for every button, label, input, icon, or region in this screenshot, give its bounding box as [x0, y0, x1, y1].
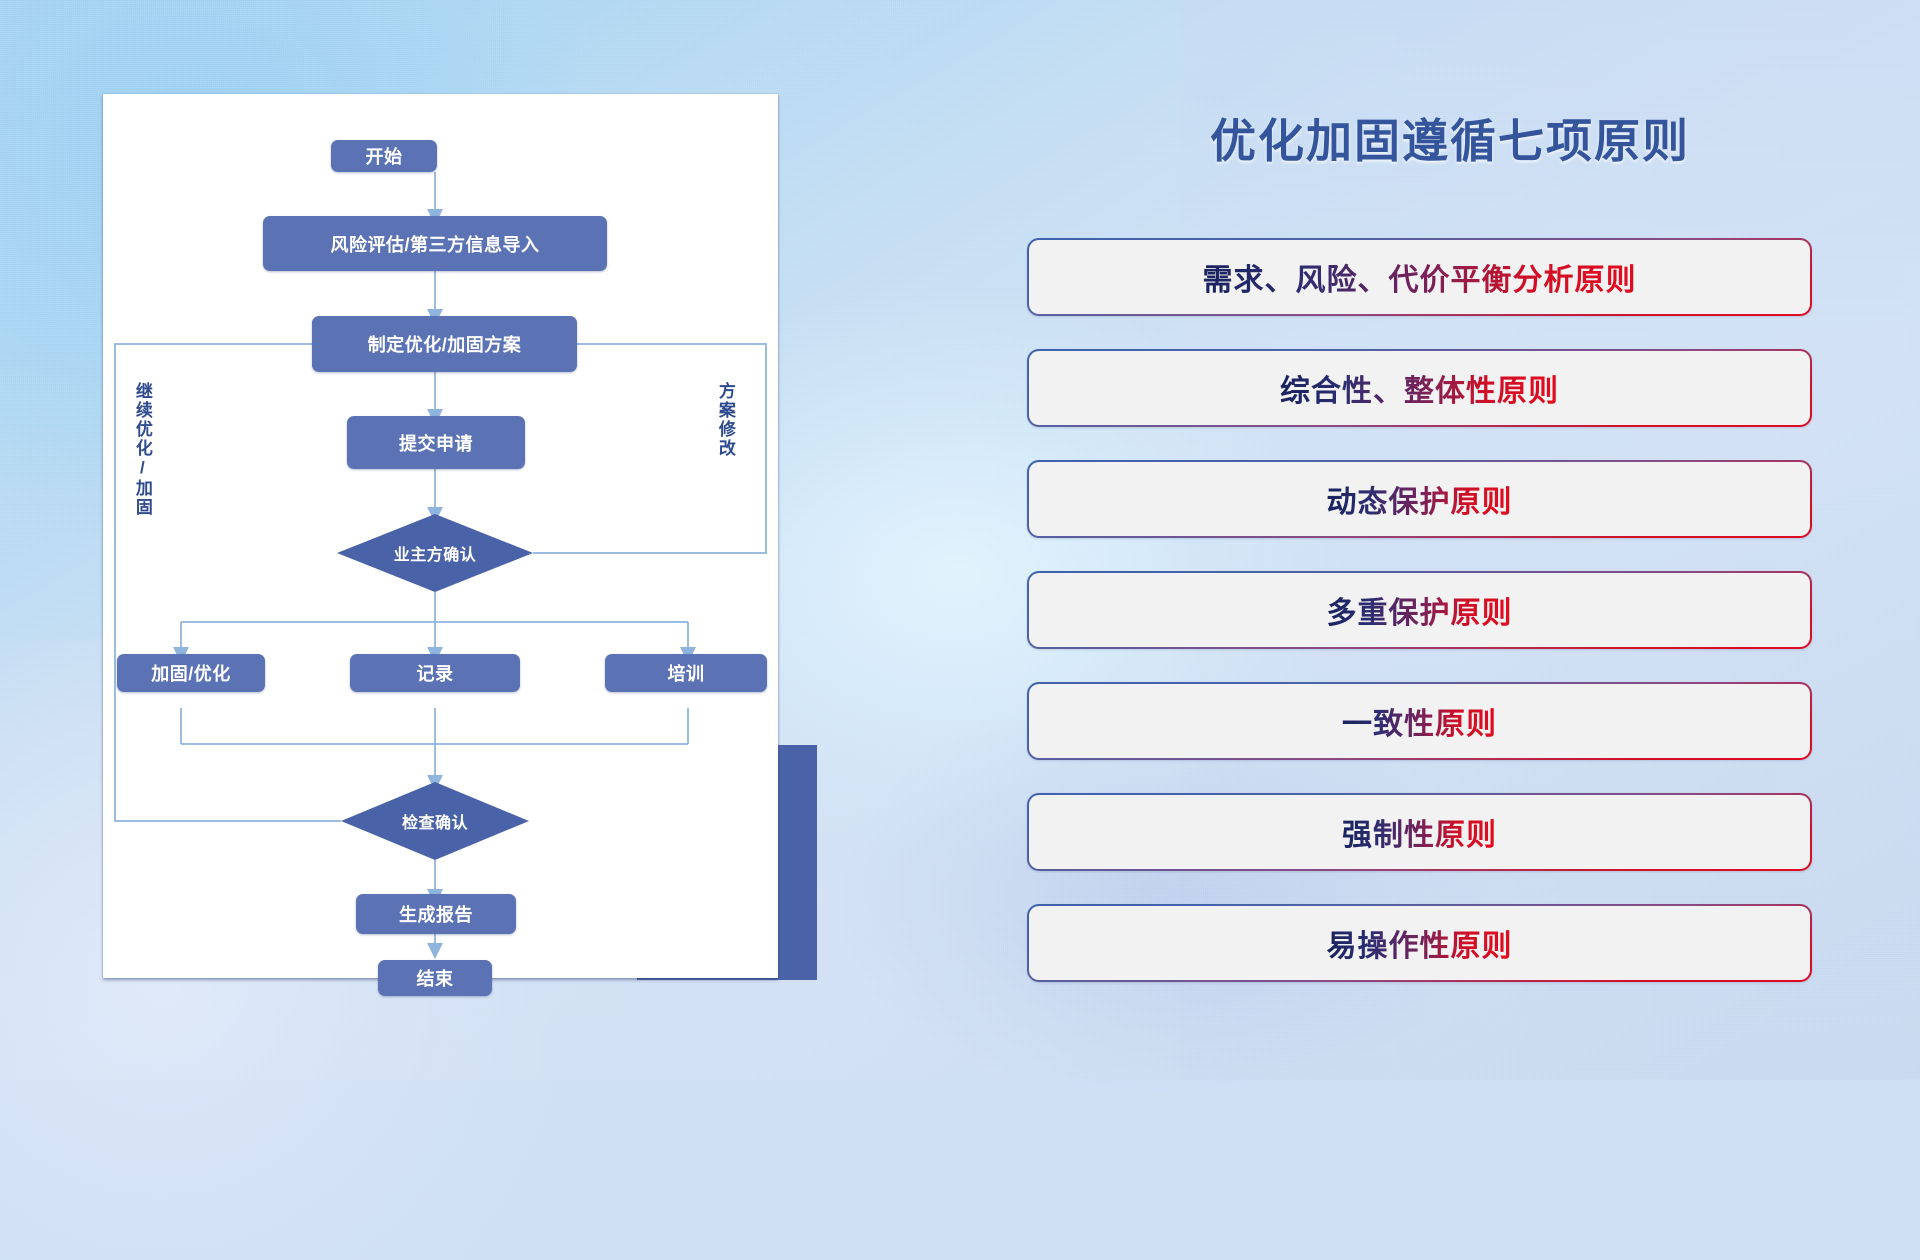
flow-node-owner-confirm-label: 业主方确认 — [394, 541, 477, 565]
principle-card-7[interactable]: 易操作性原则 — [1027, 904, 1812, 982]
flow-node-reinforce-label: 加固/优化 — [151, 660, 231, 686]
principle-card-1-label: 需求、风险、代价平衡分析原则 — [1203, 255, 1637, 299]
flow-node-end[interactable]: 结束 — [378, 960, 492, 996]
flow-node-risk-assessment-label: 风险评估/第三方信息导入 — [331, 231, 540, 257]
flow-node-risk-assessment[interactable]: 风险评估/第三方信息导入 — [263, 216, 607, 271]
principle-card-3[interactable]: 动态保护原则 — [1027, 460, 1812, 538]
principle-card-4-label: 多重保护原则 — [1327, 588, 1513, 632]
flow-node-start[interactable]: 开始 — [331, 140, 437, 172]
flow-node-end-label: 结束 — [417, 965, 454, 991]
principle-card-3-label: 动态保护原则 — [1327, 477, 1513, 521]
principle-card-6-label: 强制性原则 — [1342, 810, 1497, 854]
principle-card-2[interactable]: 综合性、整体性原则 — [1027, 349, 1812, 427]
flow-node-submit[interactable]: 提交申请 — [347, 416, 525, 469]
principles-panel: 优化加固遵循七项原则 需求、风险、代价平衡分析原则 综合性、整体性原则 动态保护… — [1000, 0, 1920, 1080]
flow-node-reinforce[interactable]: 加固/优化 — [117, 654, 265, 692]
principle-card-2-label: 综合性、整体性原则 — [1280, 366, 1559, 410]
flow-node-start-label: 开始 — [366, 143, 403, 169]
flow-node-plan-label: 制定优化/加固方案 — [368, 331, 522, 357]
flow-edge-label-plan-revision: 方案修改 — [716, 382, 734, 512]
flow-node-record[interactable]: 记录 — [350, 654, 520, 692]
flow-node-training-label: 培训 — [668, 660, 705, 686]
flow-node-submit-label: 提交申请 — [399, 430, 473, 456]
flow-node-plan[interactable]: 制定优化/加固方案 — [312, 316, 577, 372]
principle-card-1[interactable]: 需求、风险、代价平衡分析原则 — [1027, 238, 1812, 316]
principle-card-5-label: 一致性原则 — [1342, 699, 1497, 743]
flow-edge-label-continue-optimize: 继续优化/加固 — [133, 382, 151, 560]
principle-card-5[interactable]: 一致性原则 — [1027, 682, 1812, 760]
principle-card-4[interactable]: 多重保护原则 — [1027, 571, 1812, 649]
flowchart-card: 开始 风险评估/第三方信息导入 制定优化/加固方案 提交申请 业主方确认 加固/… — [103, 94, 778, 978]
flow-node-check-confirm-label: 检查确认 — [402, 809, 468, 833]
flow-node-record-label: 记录 — [417, 660, 454, 686]
flow-node-training[interactable]: 培训 — [605, 654, 767, 692]
principle-card-6[interactable]: 强制性原则 — [1027, 793, 1812, 871]
principles-title: 优化加固遵循七项原则 — [1000, 105, 1900, 171]
flowchart-panel: 开始 风险评估/第三方信息导入 制定优化/加固方案 提交申请 业主方确认 加固/… — [0, 0, 860, 1080]
principle-card-7-label: 易操作性原则 — [1327, 921, 1513, 965]
flow-node-report[interactable]: 生成报告 — [356, 894, 516, 934]
flow-node-report-label: 生成报告 — [399, 901, 473, 927]
